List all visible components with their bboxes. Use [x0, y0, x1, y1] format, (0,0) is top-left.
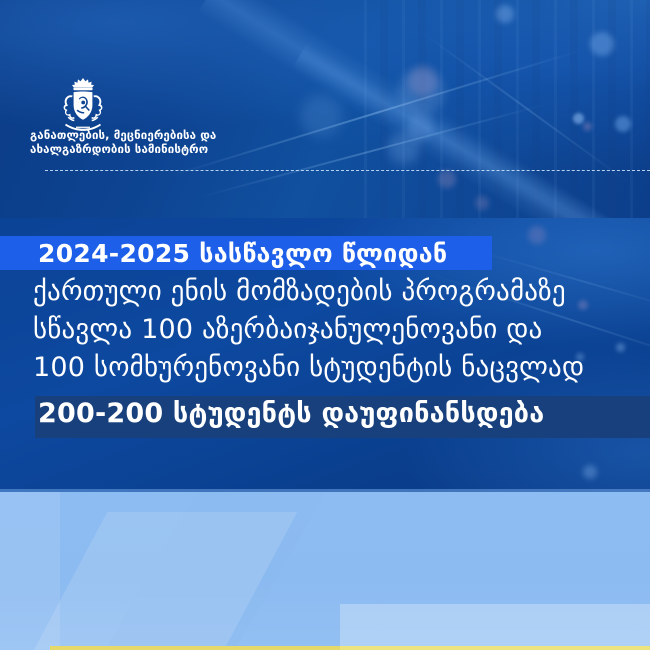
bokeh-circle-11 — [475, 196, 489, 210]
header-background: განათლების, მეცნიერებისა და ახალგაზრდობი… — [0, 0, 650, 218]
bokeh-circle-12 — [496, 5, 514, 23]
announcement-line-3: 100 სომხურენოვანი სტუდენტის ნაცვლად — [33, 352, 584, 383]
announcement-date-line: 2024-2025 სასწავლო წლიდან — [38, 239, 447, 268]
panel-bokeh-2 — [578, 300, 588, 310]
georgia-coat-of-arms-emblem — [55, 76, 111, 134]
announcement-line-2: სწავლა 100 აზერბაიჯანულენოვანი და — [33, 314, 542, 345]
bokeh-circle-10 — [438, 170, 456, 188]
announcement-poster: განათლების, მეცნიერებისა და ახალგაზრდობი… — [0, 0, 650, 650]
panel-bokeh-1 — [528, 226, 546, 244]
bokeh-circle-6 — [590, 32, 614, 56]
panel-bokeh-5 — [583, 465, 597, 479]
bokeh-circle-5 — [388, 132, 420, 164]
ministry-name-line-2: ახალგაზრდობის სამინისტრო — [30, 142, 330, 156]
dotted-separator — [45, 170, 650, 171]
yellow-accent-bar-right — [340, 646, 650, 650]
bokeh-circle-3 — [408, 66, 438, 96]
footer-shape-right — [340, 604, 650, 650]
footer-shape-angled — [33, 512, 297, 650]
footer-background — [0, 492, 650, 650]
announcement-line-4-emphasis: 200-200 სტუდენტს დაუფინანსდება — [38, 398, 544, 429]
announcement-panel: 2024-2025 სასწავლო წლიდან ქართული ენის მ… — [0, 218, 650, 492]
panel-bokeh-3 — [616, 343, 625, 352]
ministry-name-line-1: განათლების, მეცნიერებისა და — [30, 128, 330, 142]
bokeh-circle-9 — [583, 122, 592, 131]
bokeh-circle-8 — [615, 116, 631, 132]
announcement-line-1: ქართული ენის მომზადების პროგრამაზე — [33, 276, 566, 307]
bokeh-circle-7 — [573, 113, 584, 124]
ministry-name: განათლების, მეცნიერებისა და ახალგაზრდობი… — [30, 128, 330, 156]
